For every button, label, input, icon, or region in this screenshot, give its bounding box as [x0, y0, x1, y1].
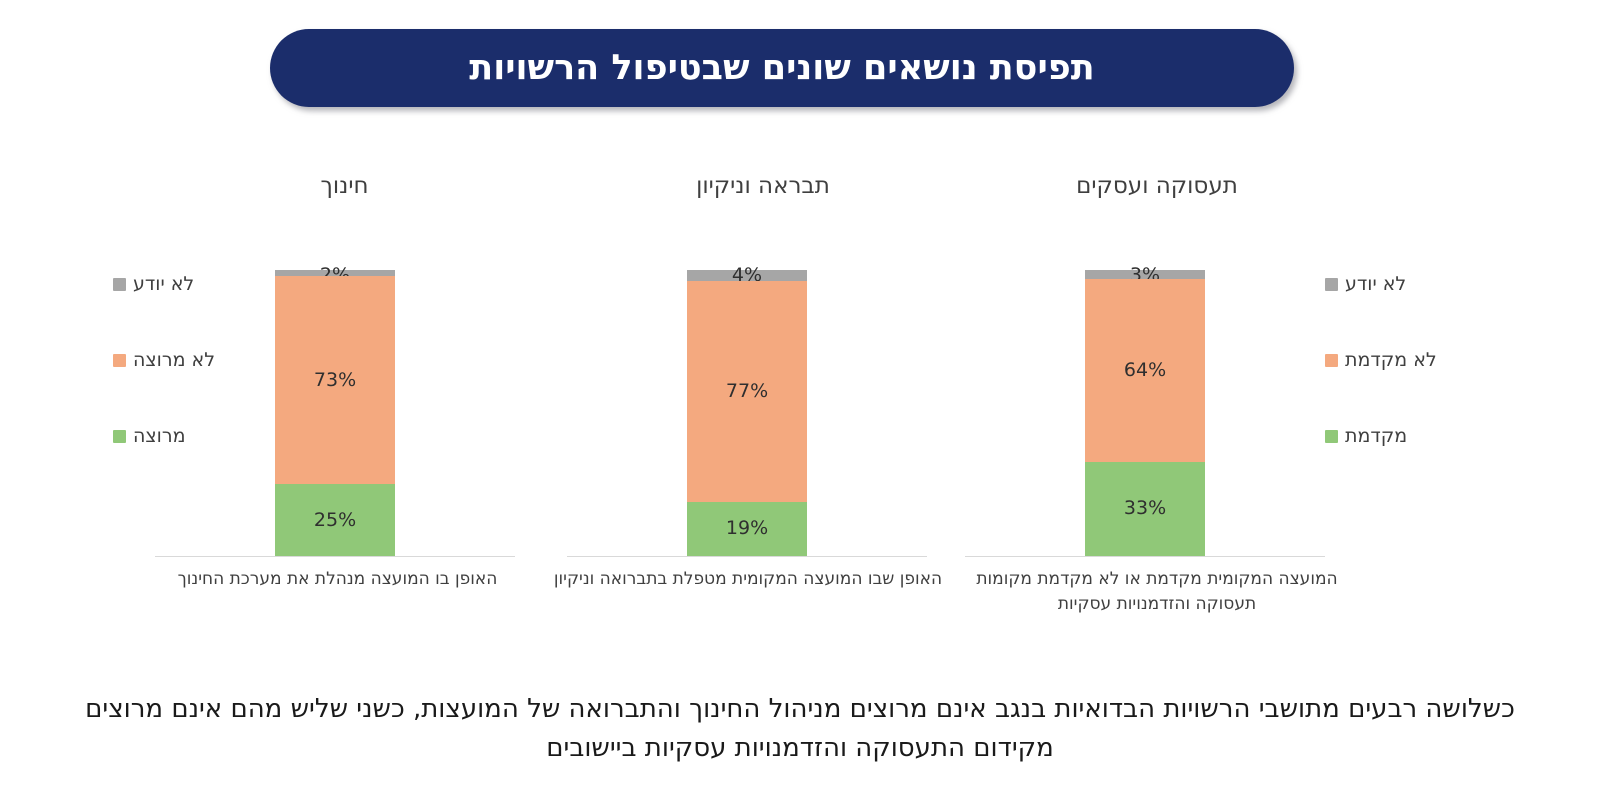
page-title-banner: תפיסת נושאים שונים שבטיפול הרשויות: [270, 29, 1294, 107]
bar-segment-label: 19%: [726, 519, 768, 538]
bar-segment-label: 77%: [726, 382, 768, 401]
page-title: תפיסת נושאים שונים שבטיפול הרשויות: [469, 51, 1094, 86]
bar-segment-label: 64%: [1124, 361, 1166, 380]
legend-item-promoting[interactable]: מקדמת: [1325, 425, 1455, 447]
x-axis-line: [965, 556, 1325, 557]
category-label: המועצה המקומית מקדמת או לא מקדמת מקומות …: [937, 567, 1377, 616]
bar-segment-label: 25%: [314, 511, 356, 530]
category-label: האופן שבו המועצה המקומית מטפלת בתברואה ו…: [533, 567, 963, 592]
plot-area: 2% 73% 25%: [155, 265, 515, 557]
legend-item-label: לא מקדמת: [1345, 351, 1437, 370]
bar-segment-satisfied[interactable]: 19%: [687, 502, 807, 556]
bar-segment-not-satisfied[interactable]: 73%: [275, 276, 395, 485]
legend-item-label: לא יודע: [1345, 275, 1406, 294]
stacked-bar[interactable]: 3% 64% 33%: [1085, 270, 1205, 556]
bar-segment-not-satisfied[interactable]: 77%: [687, 281, 807, 501]
charts-row: חינוך לא יודע לא מרוצה מרוצה 2% 73%: [0, 155, 1600, 655]
x-axis-line: [567, 556, 927, 557]
chart-panel-education: חינוך לא יודע לא מרוצה מרוצה 2% 73%: [105, 155, 570, 655]
legend-item-dont-know[interactable]: לא יודע: [1325, 273, 1455, 295]
chart-panel-sanitation: תבראה וניקיון 4% 77% 19% האופן שבו המועצ…: [545, 155, 975, 655]
caption-line-1: כשלושה רבעים מתושבי הרשויות הבדואיות בנג…: [0, 690, 1600, 729]
chart-legend-right: לא יודע לא מקדמת מקדמת: [1325, 273, 1455, 501]
chart-title: חינוך: [105, 175, 570, 198]
square-swatch-icon: [113, 354, 126, 367]
chart-title: תבראה וניקיון: [545, 175, 975, 198]
square-swatch-icon: [113, 278, 126, 291]
plot-area: 3% 64% 33%: [965, 265, 1325, 557]
caption-line-2: מקידום התעסוקה והזדמנויות עסקיות ביישובי…: [0, 729, 1600, 768]
bar-segment-satisfied[interactable]: 25%: [275, 484, 395, 556]
x-axis-line: [155, 556, 515, 557]
chart-title: תעסוקה ועסקים: [955, 175, 1455, 198]
bar-segment-label: 73%: [314, 371, 356, 390]
stacked-bar[interactable]: 4% 77% 19%: [687, 270, 807, 556]
legend-item-label: מקדמת: [1345, 427, 1407, 446]
square-swatch-icon: [1325, 354, 1338, 367]
caption-text: כשלושה רבעים מתושבי הרשויות הבדואיות בנג…: [0, 690, 1600, 768]
plot-area: 4% 77% 19%: [567, 265, 927, 557]
chart-panel-employment: תעסוקה ועסקים 3% 64% 33% לא יודע: [955, 155, 1455, 655]
square-swatch-icon: [1325, 430, 1338, 443]
bar-segment-dont-know[interactable]: 4%: [687, 270, 807, 281]
category-label: האופן בו המועצה מנהלת את מערכת החינוך: [105, 567, 570, 592]
legend-item-not-promoting[interactable]: לא מקדמת: [1325, 349, 1455, 371]
bar-segment-not-promoting[interactable]: 64%: [1085, 279, 1205, 462]
bar-segment-promoting[interactable]: 33%: [1085, 462, 1205, 556]
bar-segment-dont-know[interactable]: 3%: [1085, 270, 1205, 279]
bar-segment-label: 33%: [1124, 499, 1166, 518]
stacked-bar[interactable]: 2% 73% 25%: [275, 270, 395, 556]
square-swatch-icon: [113, 430, 126, 443]
square-swatch-icon: [1325, 278, 1338, 291]
